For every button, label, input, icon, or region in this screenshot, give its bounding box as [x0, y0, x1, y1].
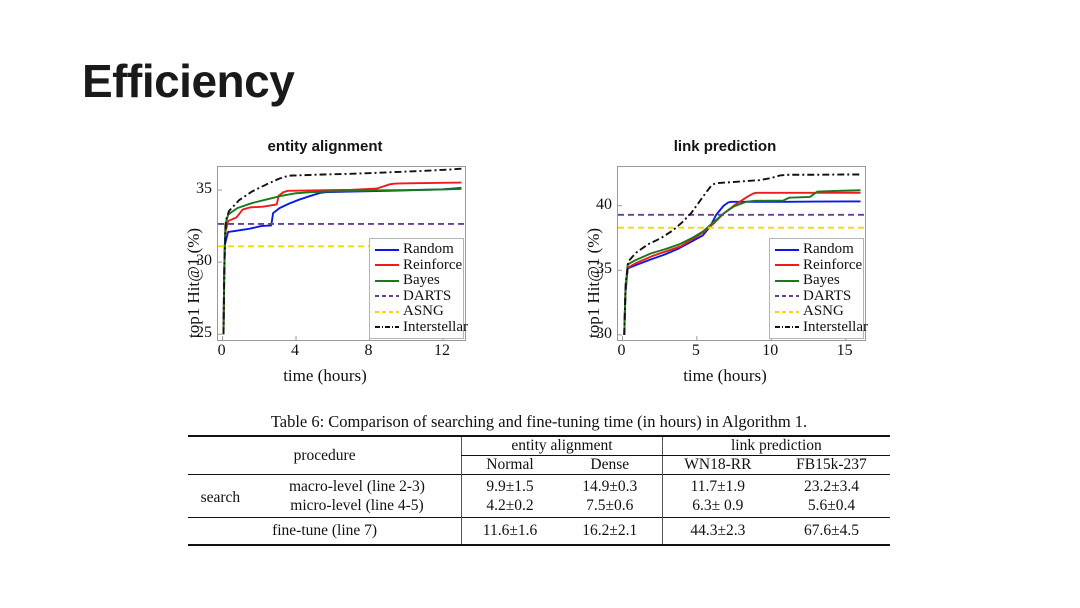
xtick-label: 5 [692, 342, 700, 360]
header-group-entity-alignment: entity alignment [462, 436, 663, 456]
xtick-label: 8 [365, 342, 373, 360]
xtick-label: 15 [837, 342, 853, 360]
figure-entity-alignment: entity alignment top1 Hit@1 (%) time (ho… [170, 138, 480, 390]
legend-label: Bayes [803, 273, 840, 289]
legend-line-icon [774, 244, 800, 256]
ytick-label: 30 [183, 252, 212, 270]
legend-label: DARTS [803, 289, 851, 305]
cell-finetune-normal: 11.6±1.6 [462, 518, 558, 546]
row-label-fine-tune: fine-tune (line 7) [188, 518, 462, 546]
header-col-fb15k237: FB15k-237 [773, 456, 890, 475]
chart-legend-0[interactable]: RandomReinforceBayesDARTSASNGInterstella… [369, 238, 464, 339]
legend-item-interstellar[interactable]: Interstellar [374, 320, 458, 336]
table-bottom-rule [188, 545, 890, 546]
header-procedure: procedure [188, 436, 462, 475]
legend-item-random[interactable]: Random [774, 242, 858, 258]
chart-xlabel-entity-alignment: time (hours) [170, 366, 480, 386]
legend-item-darts[interactable]: DARTS [374, 289, 458, 305]
legend-item-interstellar[interactable]: Interstellar [774, 320, 858, 336]
ytick-label: 30 [583, 325, 612, 343]
page-title: Efficiency [82, 58, 294, 104]
header-col-normal: Normal [462, 456, 558, 475]
legend-line-icon [774, 321, 800, 333]
legend-line-icon [374, 290, 400, 302]
legend-label: Reinforce [803, 258, 862, 274]
legend-line-icon [774, 259, 800, 271]
cell-finetune-fb15k237: 67.6±4.5 [773, 518, 890, 546]
chart-ylabel-entity-alignment: top1 Hit@1 (%) [184, 228, 204, 338]
legend-line-icon [774, 290, 800, 302]
xtick-label: 4 [291, 342, 299, 360]
legend-label: Reinforce [403, 258, 462, 274]
ytick-label: 35 [583, 260, 612, 278]
legend-label: Random [803, 242, 854, 258]
table-6: Table 6: Comparison of searching and fin… [188, 412, 890, 546]
header-col-dense: Dense [558, 456, 662, 475]
comparison-table: procedure entity alignment link predicti… [188, 435, 890, 546]
chart-xlabel-link-prediction: time (hours) [570, 366, 880, 386]
legend-line-icon [374, 321, 400, 333]
slide-canvas: Efficiency entity alignment top1 Hit@1 (… [0, 0, 1080, 608]
row-label-micro-level: micro-level (line 4-5) [253, 496, 462, 518]
legend-line-icon [374, 259, 400, 271]
cell-macro-dense: 14.9±0.3 [558, 475, 662, 497]
ytick-label: 35 [183, 180, 212, 198]
ytick-label: 40 [583, 196, 612, 214]
legend-label: Random [403, 242, 454, 258]
legend-item-bayes[interactable]: Bayes [374, 273, 458, 289]
cell-micro-wn18rr: 6.3± 0.9 [662, 496, 773, 518]
table-row: search macro-level (line 2-3) 9.9±1.5 14… [188, 475, 890, 497]
figure-link-prediction: link prediction top1 Hit@1 (%) time (hou… [570, 138, 880, 390]
chart-title-entity-alignment: entity alignment [170, 138, 480, 155]
cell-micro-fb15k237: 5.6±0.4 [773, 496, 890, 518]
legend-line-icon [774, 275, 800, 287]
legend-item-reinforce[interactable]: Reinforce [774, 258, 858, 274]
legend-label: Bayes [403, 273, 440, 289]
chart-ylabel-link-prediction: top1 Hit@1 (%) [584, 228, 604, 338]
legend-line-icon [374, 275, 400, 287]
cell-micro-normal: 4.2±0.2 [462, 496, 558, 518]
cell-macro-normal: 9.9±1.5 [462, 475, 558, 497]
chart-title-link-prediction: link prediction [570, 138, 880, 155]
legend-label: Interstellar [403, 320, 468, 336]
table-header-group-row: procedure entity alignment link predicti… [188, 436, 890, 456]
legend-label: ASNG [803, 304, 844, 320]
legend-label: Interstellar [803, 320, 868, 336]
table-row: fine-tune (line 7) 11.6±1.6 16.2±2.1 44.… [188, 518, 890, 546]
legend-label: DARTS [403, 289, 451, 305]
legend-label: ASNG [403, 304, 444, 320]
legend-item-asng[interactable]: ASNG [374, 304, 458, 320]
legend-item-asng[interactable]: ASNG [774, 304, 858, 320]
cell-finetune-wn18rr: 44.3±2.3 [662, 518, 773, 546]
cell-macro-wn18rr: 11.7±1.9 [662, 475, 773, 497]
ytick-label: 25 [183, 324, 212, 342]
row-group-search: search [188, 475, 253, 518]
legend-item-bayes[interactable]: Bayes [774, 273, 858, 289]
legend-line-icon [374, 244, 400, 256]
legend-item-reinforce[interactable]: Reinforce [374, 258, 458, 274]
xtick-label: 0 [218, 342, 226, 360]
cell-finetune-dense: 16.2±2.1 [558, 518, 662, 546]
legend-line-icon [374, 306, 400, 318]
legend-line-icon [774, 306, 800, 318]
legend-item-random[interactable]: Random [374, 242, 458, 258]
table-row: micro-level (line 4-5) 4.2±0.2 7.5±0.6 6… [188, 496, 890, 518]
cell-micro-dense: 7.5±0.6 [558, 496, 662, 518]
row-label-macro-level: macro-level (line 2-3) [253, 475, 462, 497]
header-col-wn18rr: WN18-RR [662, 456, 773, 475]
xtick-label: 10 [762, 342, 778, 360]
table-caption: Table 6: Comparison of searching and fin… [188, 412, 890, 432]
xtick-label: 12 [434, 342, 450, 360]
chart-legend-1[interactable]: RandomReinforceBayesDARTSASNGInterstella… [769, 238, 864, 339]
legend-item-darts[interactable]: DARTS [774, 289, 858, 305]
cell-macro-fb15k237: 23.2±3.4 [773, 475, 890, 497]
header-group-link-prediction: link prediction [662, 436, 890, 456]
xtick-label: 0 [617, 342, 625, 360]
